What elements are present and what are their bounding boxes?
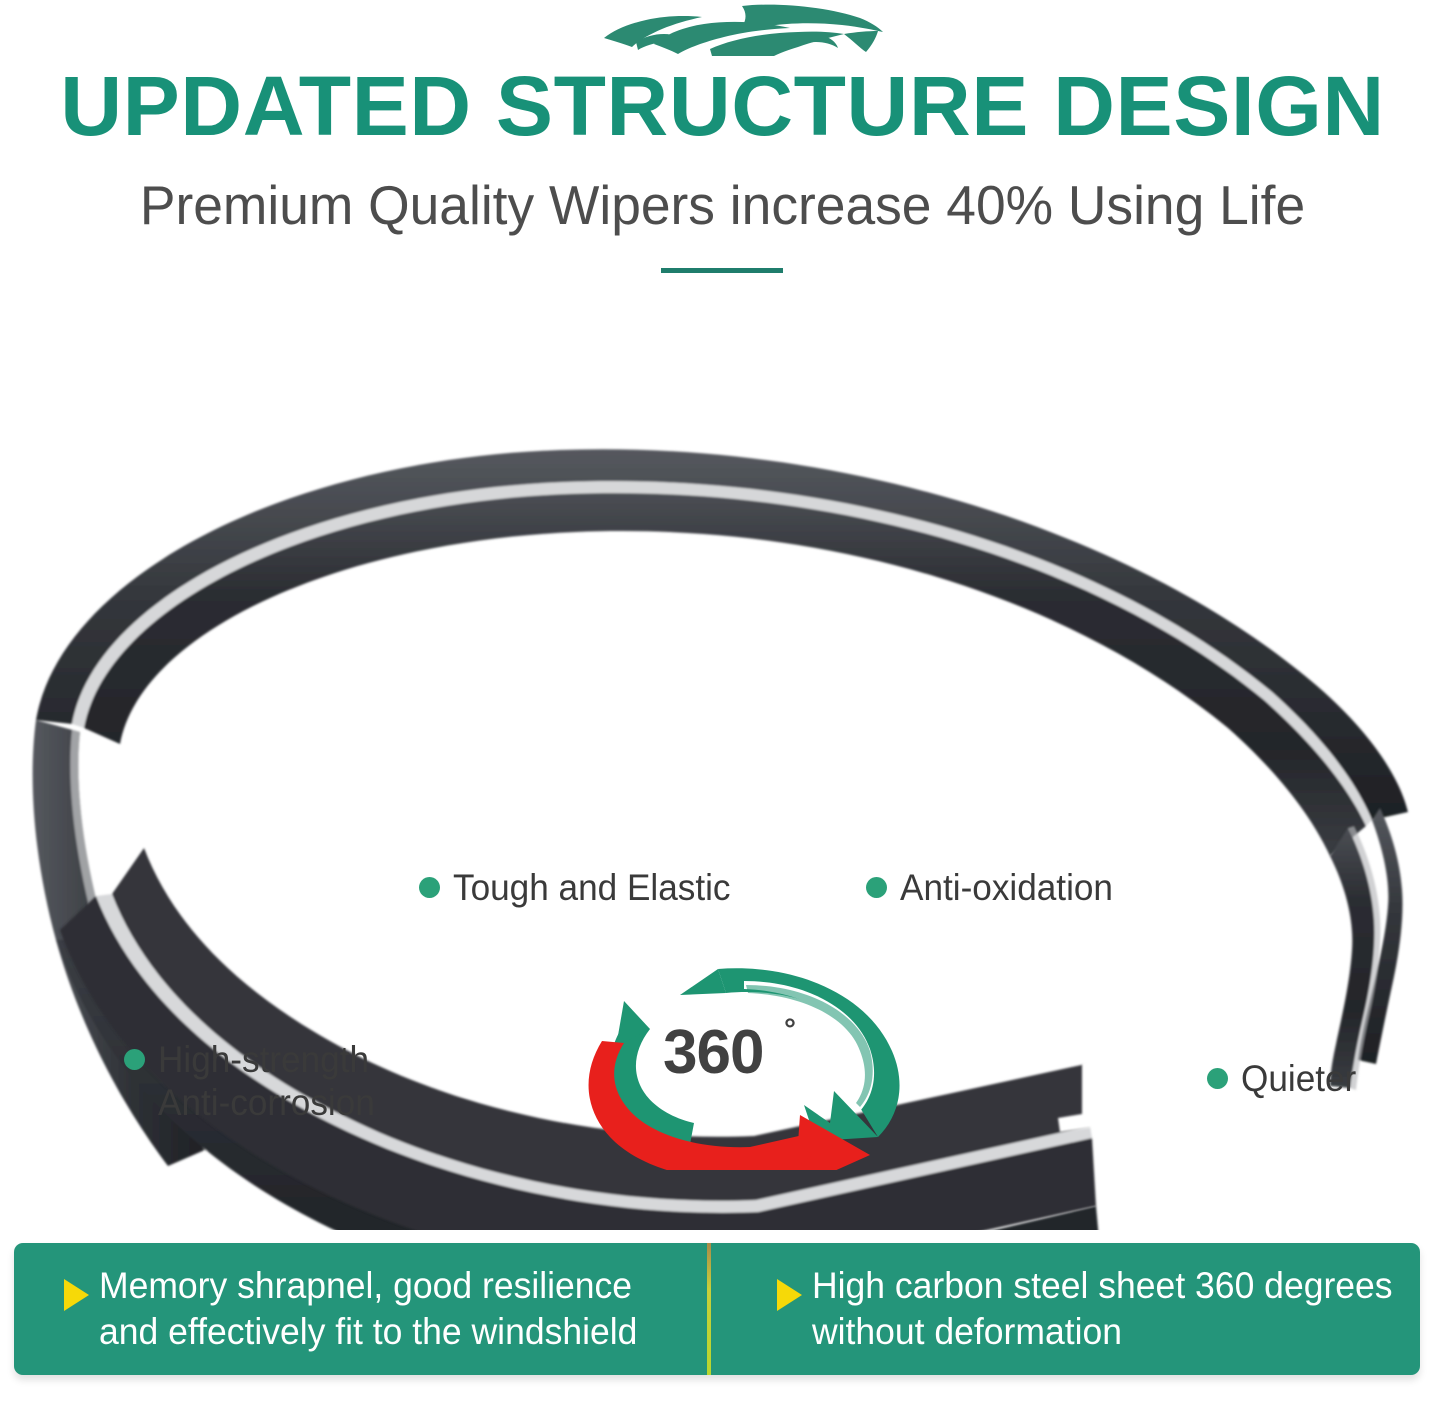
bullet-dot-icon — [866, 877, 887, 898]
bottom-callout-right-text: High carbon steel sheet 360 degrees with… — [812, 1263, 1393, 1355]
title-divider — [661, 268, 783, 273]
bottom-callout-right: High carbon steel sheet 360 degrees with… — [711, 1243, 1420, 1375]
feature-tough-and-elastic: Tough and Elastic — [419, 866, 745, 909]
car-silhouette-icon — [592, 4, 884, 58]
bullet-dot-icon — [124, 1049, 145, 1070]
bottom-callout-left: Memory shrapnel, good resilience and eff… — [14, 1243, 707, 1375]
feature-label-line1: High-strength — [158, 1039, 369, 1080]
bottom-callout-left-line2: and effectively fit to the windshield — [99, 1309, 637, 1355]
bottom-callout-bars: Memory shrapnel, good resilience and eff… — [14, 1243, 1420, 1375]
feature-label: Quieter — [1241, 1057, 1356, 1100]
bottom-callout-right-line2: without deformation — [812, 1309, 1393, 1355]
bullet-dot-icon — [419, 877, 440, 898]
page-subtitle: Premium Quality Wipers increase 40% Usin… — [22, 172, 1424, 238]
triangle-marker-icon — [777, 1279, 802, 1311]
page-title: UPDATED STRUCTURE DESIGN — [0, 60, 1445, 152]
badge-360-degrees: 360 ° — [568, 955, 918, 1170]
header-section: UPDATED STRUCTURE DESIGN Premium Quality… — [0, 0, 1445, 300]
triangle-marker-icon — [64, 1279, 89, 1311]
feature-high-strength-anti-corrosion: High-strength Anti-corrosion — [124, 1038, 386, 1124]
bottom-callout-right-line1: High carbon steel sheet 360 degrees — [812, 1263, 1393, 1309]
feature-label: Anti-oxidation — [900, 866, 1113, 909]
feature-anti-oxidation: Anti-oxidation — [866, 866, 1124, 909]
feature-label-line2: Anti-corrosion — [158, 1082, 375, 1123]
product-image-area: Tough and Elastic Anti-oxidation High-st… — [0, 300, 1445, 1230]
bottom-callout-left-line1: Memory shrapnel, good resilience — [99, 1263, 637, 1309]
feature-quieter: Quieter — [1207, 1057, 1362, 1100]
feature-label-group: High-strength Anti-corrosion — [158, 1038, 375, 1124]
badge-360-value: 360 — [663, 1022, 763, 1084]
bottom-callout-left-text: Memory shrapnel, good resilience and eff… — [99, 1263, 637, 1355]
badge-degree-symbol: ° — [784, 1013, 796, 1047]
feature-label: Tough and Elastic — [453, 866, 730, 909]
bullet-dot-icon — [1207, 1068, 1228, 1089]
